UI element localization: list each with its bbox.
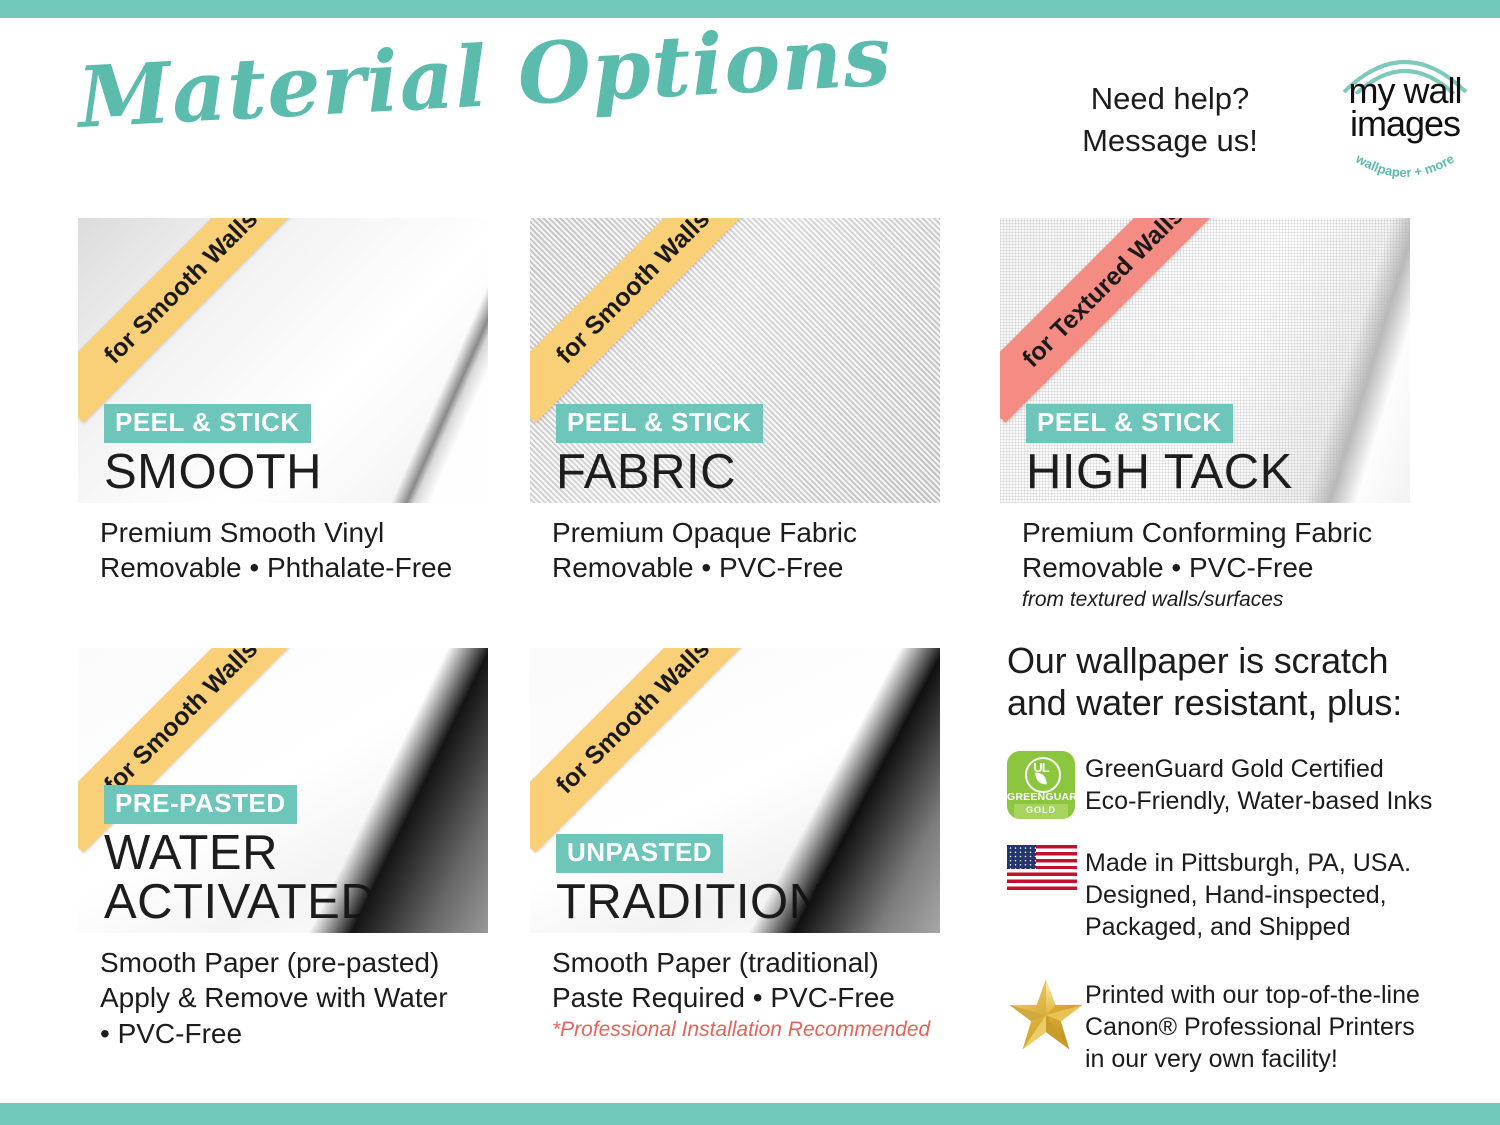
ribbon-label: for Smooth Walls [98, 648, 263, 800]
adhesive-badge: PRE-PASTED [104, 785, 297, 824]
brand-logo: my wall images wallpaper + more [1330, 38, 1480, 188]
ribbon-label: for Smooth Walls [550, 648, 715, 800]
feature-line-3: Packaged, and Shipped [1085, 911, 1411, 943]
material-description: Smooth Paper (pre-pasted) Apply & Remove… [78, 945, 488, 1051]
material-description: Smooth Paper (traditional) Paste Require… [530, 945, 940, 1043]
wall-type-ribbon: for Smooth Walls [530, 648, 769, 853]
feature-text: Made in Pittsburgh, PA, USA. Designed, H… [1085, 845, 1411, 943]
material-name: WATER ACTIVATED [104, 829, 376, 927]
material-overlay: PEEL & STICK HIGH TACK [1026, 404, 1293, 497]
material-description: Premium Conforming Fabric Removable • PV… [1000, 515, 1410, 613]
greenguard-label: GREENGUARD [1007, 791, 1075, 803]
greenguard-tier-label: GOLD [1014, 805, 1068, 815]
adhesive-badge: UNPASTED [556, 834, 723, 873]
ribbon-label: for Smooth Walls [550, 218, 715, 370]
panel-heading-line-1: Our wallpaper is scratch [1007, 640, 1467, 682]
desc-line-2: Apply & Remove with Water [100, 980, 488, 1015]
flag-stars [1007, 845, 1036, 869]
material-card-smooth[interactable]: for Smooth Walls PEEL & STICK SMOOTH Pre… [78, 218, 488, 586]
material-photo: for Smooth Walls PRE-PASTED WATER ACTIVA… [78, 648, 488, 933]
feature-text: Printed with our top-of-the-line Canon® … [1085, 977, 1420, 1075]
logo-tagline: wallpaper + more [1330, 146, 1480, 192]
adhesive-badge: PEEL & STICK [1026, 404, 1233, 443]
material-name: TRADITIONAL* [556, 878, 905, 927]
desc-line-1: Premium Smooth Vinyl [100, 515, 488, 550]
desc-note: from textured walls/surfaces [1022, 586, 1410, 613]
material-description: Premium Opaque Fabric Removable • PVC-Fr… [530, 515, 940, 586]
desc-line-2: Removable • Phthalate-Free [100, 550, 488, 585]
desc-line-1: Smooth Paper (pre-pasted) [100, 945, 488, 980]
adhesive-badge: PEEL & STICK [104, 404, 311, 443]
material-card-fabric[interactable]: for Smooth Walls PEEL & STICK FABRIC Pre… [530, 218, 940, 586]
material-name: SMOOTH [104, 448, 322, 497]
desc-line-1: Premium Conforming Fabric [1022, 515, 1410, 550]
material-overlay: PEEL & STICK SMOOTH [104, 404, 322, 497]
feature-icon-slot: UL GREENGUARD GOLD [1007, 751, 1085, 819]
material-photo: for Textured Walls PEEL & STICK HIGH TAC… [1000, 218, 1410, 503]
panel-heading-line-2: and water resistant, plus: [1007, 682, 1467, 724]
bottom-accent-bar [0, 1103, 1500, 1125]
material-photo: for Smooth Walls PEEL & STICK SMOOTH [78, 218, 488, 503]
feature-icon-slot [1007, 977, 1085, 1053]
desc-line-1: Premium Opaque Fabric [552, 515, 940, 550]
feature-line-2: Canon® Professional Printers [1085, 1011, 1420, 1043]
feature-text: GreenGuard Gold Certified Eco-Friendly, … [1085, 751, 1432, 817]
svg-text:wallpaper + more: wallpaper + more [1352, 150, 1456, 180]
feature-item-greenguard: UL GREENGUARD GOLD GreenGuard Gold Certi… [1007, 751, 1467, 819]
wall-type-ribbon: for Textured Walls [1000, 218, 1239, 423]
logo-name-line-2: images [1330, 107, 1480, 140]
gold-star-icon [1007, 977, 1085, 1053]
ribbon-label: for Smooth Walls [98, 218, 263, 370]
material-overlay: PRE-PASTED WATER ACTIVATED [104, 785, 376, 927]
desc-line-2: Paste Required • PVC-Free [552, 980, 940, 1015]
help-line-1: Need help? [1055, 78, 1285, 120]
desc-line-3: • PVC-Free [100, 1016, 488, 1051]
desc-line-1: Smooth Paper (traditional) [552, 945, 940, 980]
feature-line-1: GreenGuard Gold Certified [1085, 753, 1432, 785]
feature-line-3: in our very own facility! [1085, 1043, 1420, 1075]
feature-line-2: Designed, Hand-inspected, [1085, 879, 1411, 911]
material-photo: for Smooth Walls UNPASTED TRADITIONAL* [530, 648, 940, 933]
wall-type-ribbon: for Smooth Walls [530, 218, 769, 423]
feature-line-2: Eco-Friendly, Water-based Inks [1085, 785, 1432, 817]
us-flag-icon [1007, 845, 1077, 890]
feature-line-1: Made in Pittsburgh, PA, USA. [1085, 847, 1411, 879]
feature-icon-slot [1007, 845, 1085, 890]
material-overlay: PEEL & STICK FABRIC [556, 404, 763, 497]
feature-item-canon-printers: Printed with our top-of-the-line Canon® … [1007, 977, 1467, 1075]
material-name: FABRIC [556, 448, 763, 497]
features-panel: Our wallpaper is scratch and water resis… [1007, 640, 1467, 1075]
material-overlay: UNPASTED TRADITIONAL* [556, 834, 905, 927]
material-card-traditional[interactable]: for Smooth Walls UNPASTED TRADITIONAL* S… [530, 648, 940, 1043]
need-help-text: Need help? Message us! [1055, 78, 1285, 162]
material-name: HIGH TACK [1026, 448, 1293, 497]
logo-wordmark: my wall images [1330, 74, 1480, 140]
material-card-high-tack[interactable]: for Textured Walls PEEL & STICK HIGH TAC… [1000, 218, 1410, 613]
material-description: Premium Smooth Vinyl Removable • Phthala… [78, 515, 488, 586]
feature-item-made-in-usa: Made in Pittsburgh, PA, USA. Designed, H… [1007, 845, 1467, 943]
desc-note: *Professional Installation Recommended [552, 1016, 940, 1043]
material-card-water-activated[interactable]: for Smooth Walls PRE-PASTED WATER ACTIVA… [78, 648, 488, 1051]
adhesive-badge: PEEL & STICK [556, 404, 763, 443]
ribbon-label: for Textured Walls [1017, 218, 1190, 373]
greenguard-gold-icon: UL GREENGUARD GOLD [1007, 751, 1075, 819]
desc-line-2: Removable • PVC-Free [552, 550, 940, 585]
greenguard-tier-band: GOLD [1014, 804, 1068, 819]
wall-type-ribbon: for Smooth Walls [78, 218, 317, 423]
help-line-2: Message us! [1055, 120, 1285, 162]
material-photo: for Smooth Walls PEEL & STICK FABRIC [530, 218, 940, 503]
feature-line-1: Printed with our top-of-the-line [1085, 979, 1420, 1011]
panel-heading: Our wallpaper is scratch and water resis… [1007, 640, 1467, 725]
page-title: Material Options [75, 5, 893, 146]
desc-line-2: Removable • PVC-Free [1022, 550, 1410, 585]
